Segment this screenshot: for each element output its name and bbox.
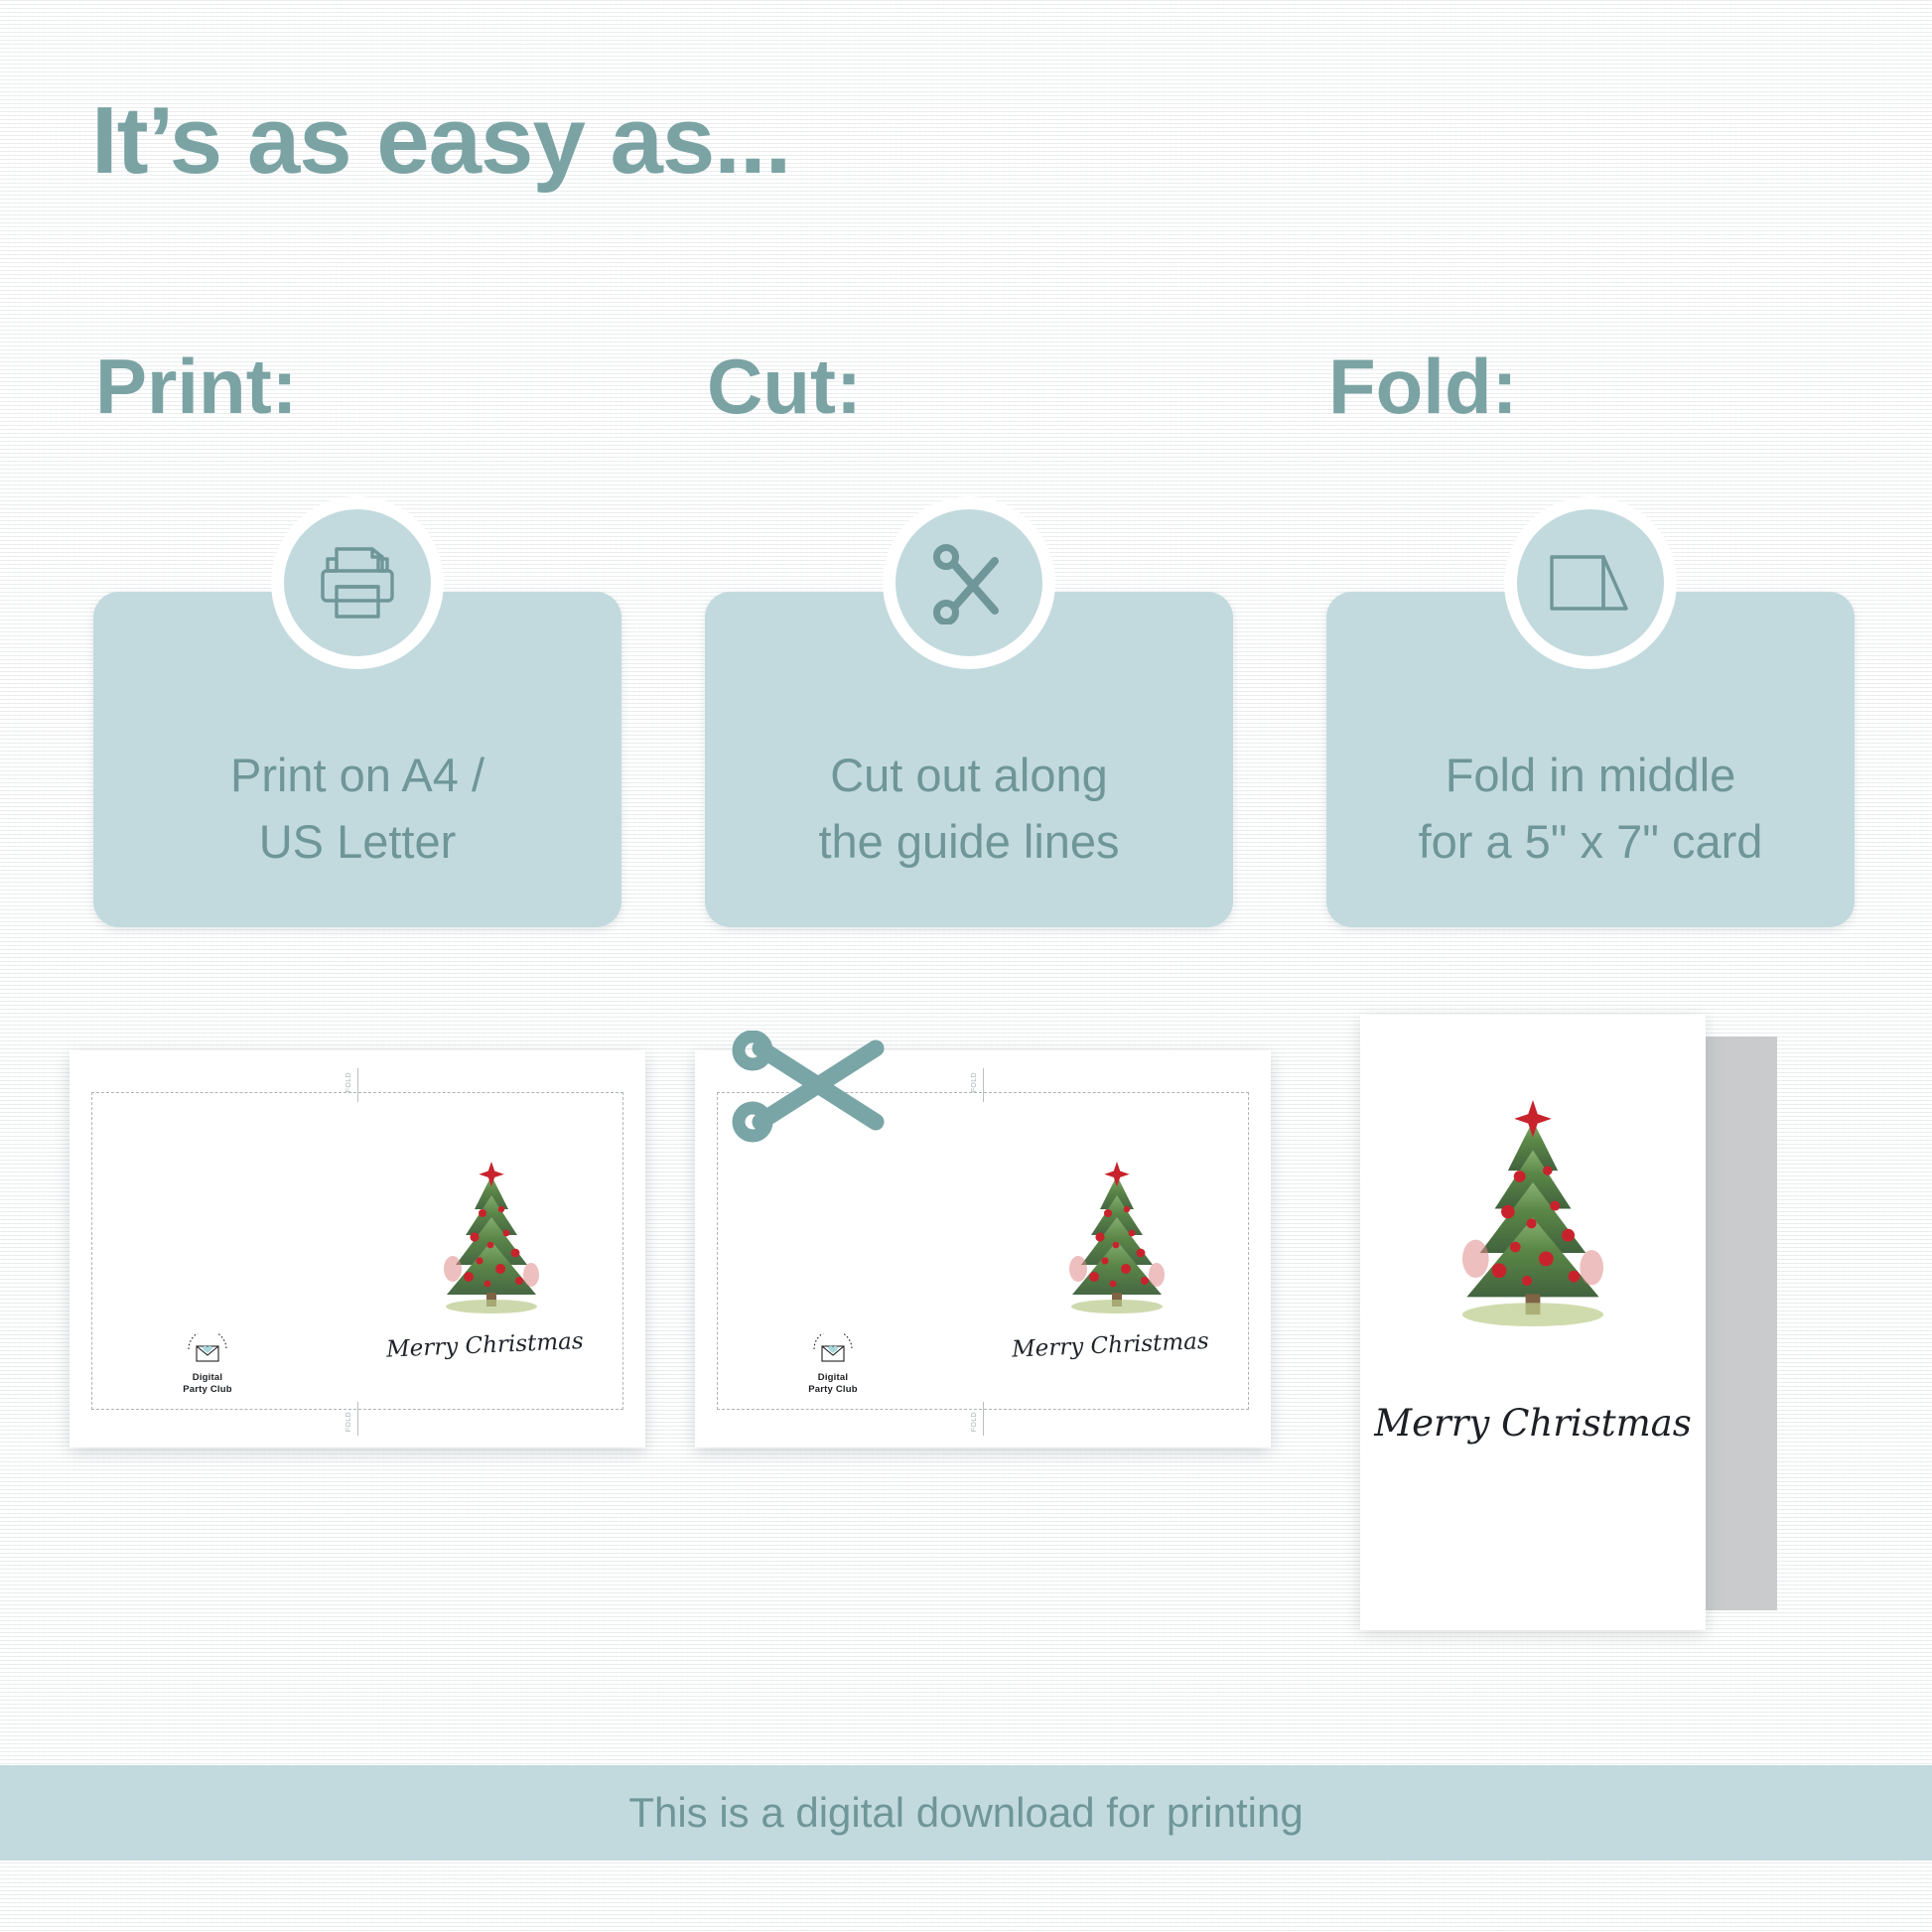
footer-band: This is a digital download for printing xyxy=(0,1765,1932,1861)
step-card-print-text: Print on A4 / US Letter xyxy=(93,743,621,875)
fold-label-top: FOLD xyxy=(345,1072,352,1092)
brand-name-line1: Digital xyxy=(161,1372,254,1384)
step-heading-cut: Cut: xyxy=(707,347,862,425)
fold-label-bottom: FOLD xyxy=(345,1412,352,1432)
step-card-fold-text: Fold in middle for a 5" x 7" card xyxy=(1326,743,1855,875)
step-heading-fold: Fold: xyxy=(1328,347,1518,425)
step-card-fold-line1: Fold in middle for a 5" x 7" card xyxy=(1342,743,1839,875)
card-front-panel: Merry Christmas xyxy=(1360,1015,1706,1630)
brand-logo: Digital Party Club xyxy=(161,1333,254,1396)
brand-logo: Digital Party Club xyxy=(786,1333,880,1396)
fold-line-bottom xyxy=(357,1402,358,1436)
step-card-cut-line1: Cut out along the guide lines xyxy=(721,743,1217,875)
fold-label-bottom: FOLD xyxy=(971,1412,978,1432)
printer-icon-badge xyxy=(271,496,444,669)
fold-line-top xyxy=(983,1068,984,1102)
page-title: It’s as easy as... xyxy=(91,91,790,192)
folded-card-icon xyxy=(1547,548,1634,618)
fold-line-top xyxy=(357,1068,358,1102)
page-canvas: It’s as easy as... Print: Cut: Fold: Pri… xyxy=(0,0,1932,1932)
envelope-heart-icon xyxy=(182,1354,233,1371)
christmas-tree-artwork xyxy=(1423,1088,1643,1338)
folded-card-icon-badge xyxy=(1504,496,1677,669)
printer-icon xyxy=(315,543,400,622)
step-card-print: Print on A4 / US Letter xyxy=(93,592,621,927)
step-heading-print: Print: xyxy=(95,347,298,425)
scissors-icon-badge xyxy=(883,496,1055,669)
step-card-cut: Cut out along the guide lines xyxy=(705,592,1233,927)
brand-name-line2: Party Club xyxy=(786,1384,880,1396)
fold-label-top: FOLD xyxy=(971,1072,978,1092)
step-card-print-line1: Print on A4 / US Letter xyxy=(109,743,606,875)
scissors-icon xyxy=(927,541,1011,624)
brand-name-line2: Party Club xyxy=(161,1384,254,1396)
footer-text: This is a digital download for printing xyxy=(628,1789,1303,1837)
step-card-fold: Fold in middle for a 5" x 7" card xyxy=(1326,592,1855,927)
card-front-greeting: Merry Christmas xyxy=(1360,1402,1706,1445)
step-card-cut-text: Cut out along the guide lines xyxy=(705,743,1233,875)
brand-name-line1: Digital xyxy=(786,1372,880,1384)
scissors-overlay-icon xyxy=(731,1031,897,1150)
envelope-heart-icon xyxy=(807,1354,859,1371)
folded-card-mockup: Merry Christmas xyxy=(1360,1015,1817,1630)
preview-sheet-print: FOLD FOLD xyxy=(69,1050,645,1448)
christmas-tree-artwork xyxy=(1042,1154,1191,1322)
fold-line-bottom xyxy=(983,1402,984,1436)
christmas-tree-artwork xyxy=(417,1154,566,1322)
